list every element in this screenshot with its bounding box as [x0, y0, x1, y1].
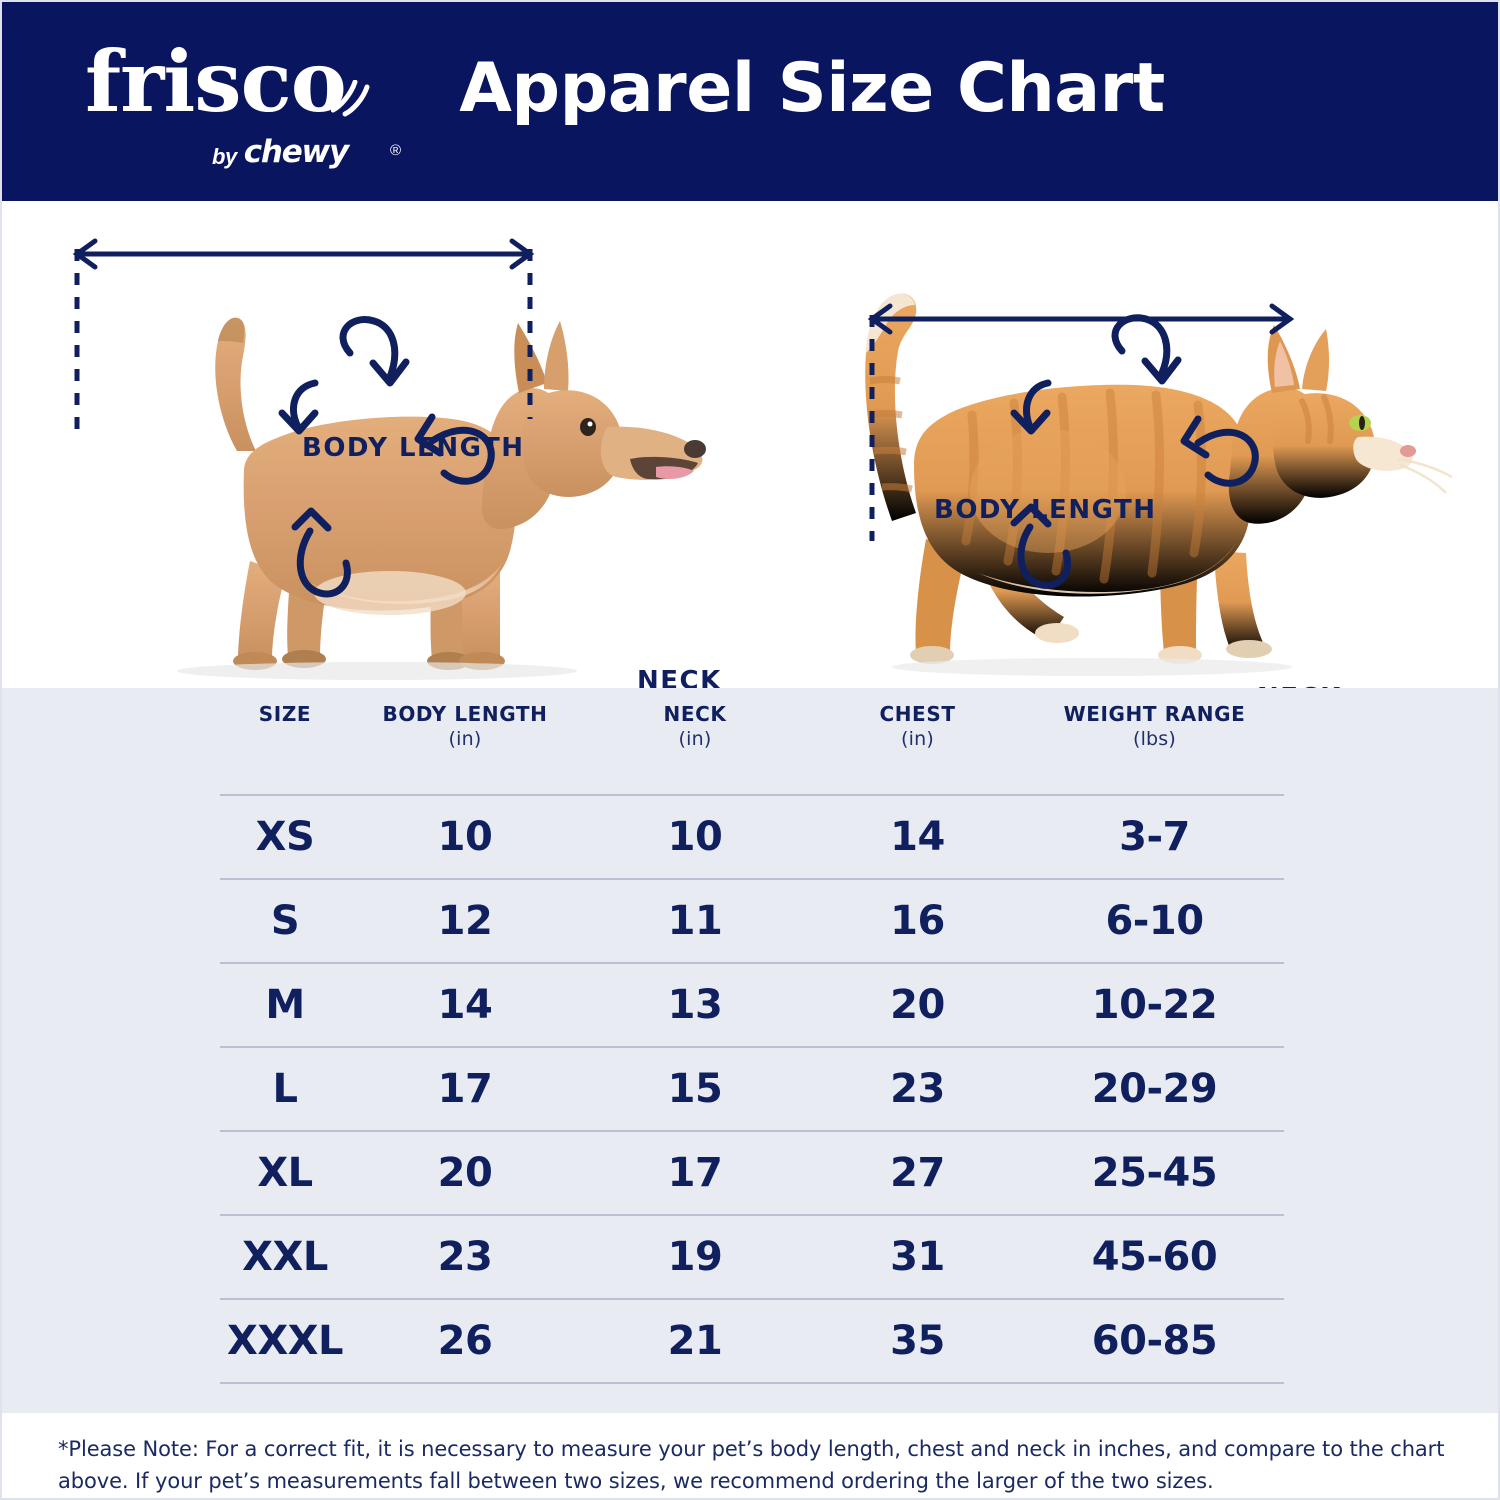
- table-header-row: SIZE BODY LENGTH (in) NECK (in) CHEST (i…: [220, 688, 1284, 794]
- cell-neck: 13: [580, 982, 810, 1028]
- cell-weight-range: 3-7: [1025, 814, 1284, 860]
- column-header-body-length-label: BODY LENGTH: [382, 702, 547, 726]
- cell-chest: 35: [810, 1318, 1025, 1364]
- table-row: XL 20 17 27 25-45: [220, 1130, 1284, 1214]
- size-table: SIZE BODY LENGTH (in) NECK (in) CHEST (i…: [220, 688, 1284, 1384]
- registered-trademark-icon: ®: [390, 142, 401, 159]
- cell-body-length: 14: [350, 982, 580, 1028]
- cell-neck: 11: [580, 898, 810, 944]
- dog-diagram: BODY LENGTH NECK CHEST: [32, 201, 752, 688]
- column-header-size-label: SIZE: [259, 702, 311, 726]
- column-header-chest-unit: (in): [810, 727, 1025, 752]
- cell-size: XXXL: [220, 1318, 350, 1364]
- cell-neck: 21: [580, 1318, 810, 1364]
- size-chart-page: frisco ® by chewy Apparel Size Chart: [0, 0, 1500, 1500]
- cell-chest: 31: [810, 1234, 1025, 1280]
- cell-neck: 19: [580, 1234, 810, 1280]
- size-table-section: SIZE BODY LENGTH (in) NECK (in) CHEST (i…: [2, 688, 1500, 1413]
- table-row: XXL 23 19 31 45-60: [220, 1214, 1284, 1298]
- dog-body-length-label: BODY LENGTH: [302, 433, 524, 463]
- illustration-band: BODY LENGTH NECK CHEST: [2, 201, 1500, 688]
- cell-chest: 20: [810, 982, 1025, 1028]
- cell-body-length: 12: [350, 898, 580, 944]
- cell-size: S: [220, 898, 350, 944]
- cell-size: XL: [220, 1150, 350, 1196]
- column-header-neck-unit: (in): [580, 727, 810, 752]
- table-row: XXXL 26 21 35 60-85: [220, 1298, 1284, 1382]
- table-bottom-divider: [220, 1382, 1284, 1384]
- cell-size: XXL: [220, 1234, 350, 1280]
- cat-illustration: [762, 201, 1482, 688]
- column-header-neck-label: NECK: [664, 702, 727, 726]
- table-row: L 17 15 23 20-29: [220, 1046, 1284, 1130]
- cell-chest: 14: [810, 814, 1025, 860]
- cell-neck: 10: [580, 814, 810, 860]
- page-header: frisco ® by chewy Apparel Size Chart: [2, 2, 1500, 201]
- column-header-body-length-unit: (in): [350, 727, 580, 752]
- column-header-neck: NECK (in): [580, 702, 810, 752]
- byline-chewy: chewy: [244, 134, 348, 170]
- column-header-chest: CHEST (in): [810, 702, 1025, 752]
- cell-size: L: [220, 1066, 350, 1112]
- cell-body-length: 23: [350, 1234, 580, 1280]
- cell-weight-range: 45-60: [1025, 1234, 1284, 1280]
- column-header-weight-range-unit: (lbs): [1025, 727, 1284, 752]
- column-header-weight-range-label: WEIGHT RANGE: [1064, 702, 1246, 726]
- byline-prefix: by: [212, 144, 237, 170]
- cat-body-length-label: BODY LENGTH: [934, 495, 1156, 525]
- cell-weight-range: 6-10: [1025, 898, 1284, 944]
- cell-body-length: 17: [350, 1066, 580, 1112]
- logo-byline: by chewy: [212, 134, 348, 170]
- table-row: XS 10 10 14 3-7: [220, 794, 1284, 878]
- column-header-size: SIZE: [220, 702, 350, 727]
- cell-weight-range: 60-85: [1025, 1318, 1284, 1364]
- footer-section: *Please Note: For a correct fit, it is n…: [2, 1413, 1500, 1500]
- cell-body-length: 26: [350, 1318, 580, 1364]
- cell-weight-range: 20-29: [1025, 1066, 1284, 1112]
- cell-neck: 17: [580, 1150, 810, 1196]
- cell-size: M: [220, 982, 350, 1028]
- cell-body-length: 20: [350, 1150, 580, 1196]
- cat-diagram: BODY LENGTH NECK CHEST: [762, 201, 1482, 688]
- cell-weight-range: 10-22: [1025, 982, 1284, 1028]
- table-row: M 14 13 20 10-22: [220, 962, 1284, 1046]
- table-row: S 12 11 16 6-10: [220, 878, 1284, 962]
- cell-size: XS: [220, 814, 350, 860]
- please-note-text: *Please Note: For a correct fit, it is n…: [58, 1433, 1448, 1497]
- cell-weight-range: 25-45: [1025, 1150, 1284, 1196]
- cell-body-length: 10: [350, 814, 580, 860]
- cell-chest: 27: [810, 1150, 1025, 1196]
- column-header-chest-label: CHEST: [879, 702, 955, 726]
- cell-neck: 15: [580, 1066, 810, 1112]
- cell-chest: 23: [810, 1066, 1025, 1112]
- column-header-weight-range: WEIGHT RANGE (lbs): [1025, 702, 1284, 752]
- page-title: Apparel Size Chart: [2, 50, 1500, 128]
- column-header-body-length: BODY LENGTH (in): [350, 702, 580, 752]
- cell-chest: 16: [810, 898, 1025, 944]
